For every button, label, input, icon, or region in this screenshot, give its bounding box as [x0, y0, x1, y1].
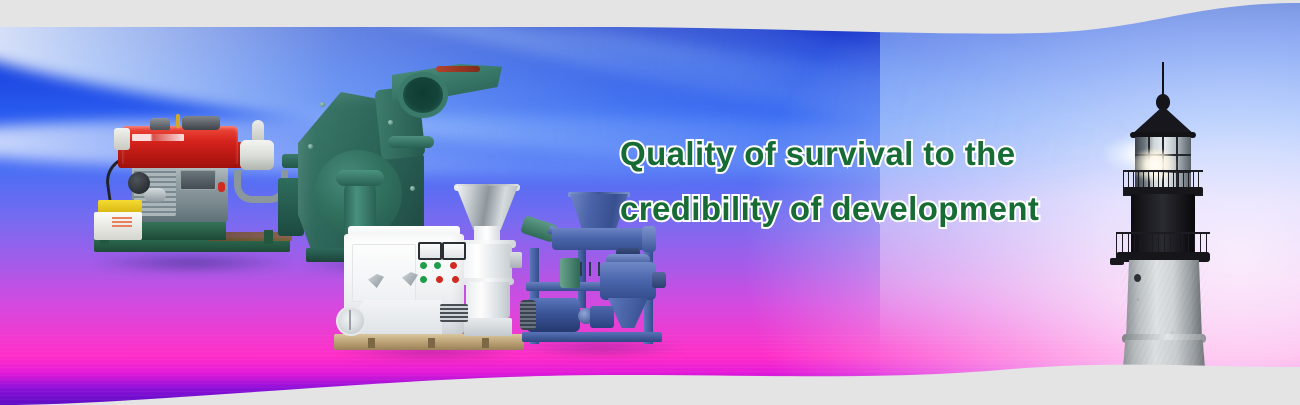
engine-flywheel: [128, 172, 150, 194]
extruder-press-head: [600, 262, 656, 300]
engine-lifting-hook: [176, 114, 180, 128]
pellet-die-chamber: [466, 282, 510, 318]
lighthouse-vent: [1134, 274, 1141, 282]
mill-chute-lip: [436, 66, 480, 72]
mill-inlet-mouth: [398, 72, 448, 118]
engine-nameplate: [180, 170, 216, 190]
extruder-motor-fan-cover: [520, 300, 536, 330]
banner-tagline: Quality of survival to the credibility o…: [620, 126, 1090, 236]
engine-battery-label: [112, 217, 132, 227]
engine-muffler: [240, 140, 274, 170]
lighthouse-spire: [1162, 62, 1164, 96]
top-curve-frame: [0, 0, 1300, 46]
engine-leg-right: [264, 230, 273, 244]
lighthouse-icon: [1108, 62, 1228, 392]
extruder-discharge-cone: [608, 298, 648, 328]
promo-banner: Quality of survival to the credibility o…: [0, 0, 1300, 405]
pellet-fan: [336, 306, 366, 336]
extruder-belt-guard: [590, 306, 614, 328]
tagline-line-1: Quality of survival to the: [620, 126, 1090, 181]
extruder-aux-motor: [560, 258, 580, 288]
bottom-curve-frame: [0, 357, 1300, 405]
extruder-side-plug: [652, 272, 666, 288]
engine-shadow: [92, 252, 292, 274]
tagline-line-2: credibility of development: [620, 181, 1090, 236]
engine-fuel-tank: [122, 126, 238, 164]
mill-flange: [388, 136, 434, 148]
pellet-gauge-right: [442, 242, 466, 260]
pellet-cabinet-door: [352, 244, 416, 302]
engine-air-filter: [182, 116, 220, 130]
pellet-head-foot: [464, 318, 512, 336]
product-diesel-engine: [88, 112, 296, 280]
engine-fuel-cap: [150, 118, 170, 130]
engine-red-knob: [218, 182, 225, 192]
pellet-steel-hopper: [456, 186, 518, 230]
pellet-vent-grille: [440, 304, 468, 322]
extruder-base: [522, 332, 662, 342]
pellet-gauge-left: [418, 242, 442, 260]
engine-decal: [132, 134, 184, 141]
product-pellet-mill: [332, 182, 528, 370]
engine-tank-tab: [114, 128, 130, 150]
